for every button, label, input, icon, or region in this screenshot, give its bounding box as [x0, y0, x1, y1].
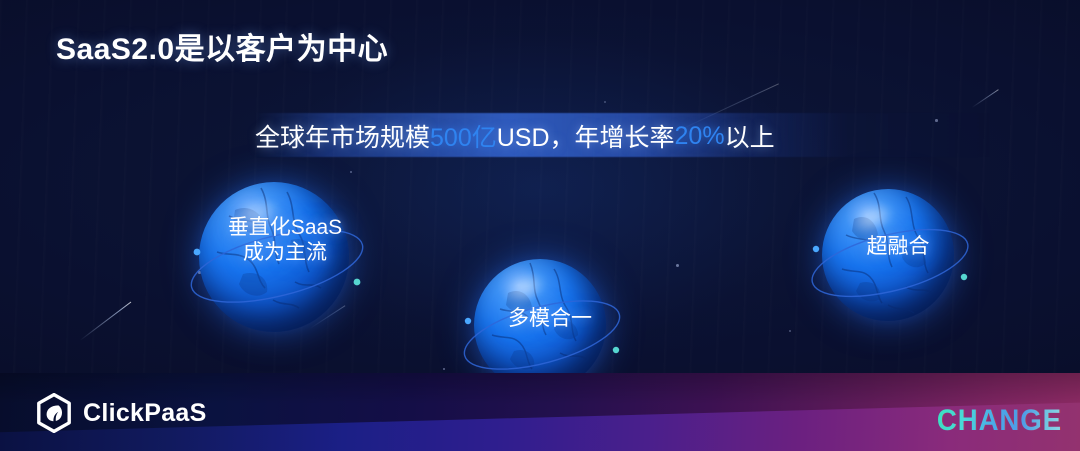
subtitle-text: 全球年市场规模 500亿USD，年增长率20%以上	[255, 117, 1015, 155]
subtitle-highlight-growth-rate: 20%	[675, 122, 725, 151]
node-label: 垂直化SaaS 成为主流	[180, 216, 390, 266]
page-title: SaaS2.0是以客户为中心	[56, 24, 388, 68]
concept-node-hyperconverged[interactable]: 超融合	[808, 175, 988, 345]
star-dot	[676, 264, 679, 267]
presentation-slide: SaaS2.0是以客户为中心 全球年市场规模 500亿USD，年增长率20%以上	[0, 0, 1080, 451]
hexagon-leaf-logo-icon	[36, 393, 72, 433]
star-dot	[443, 368, 445, 370]
brand-logo[interactable]: ClickPaaS	[36, 393, 207, 433]
node-label-line-1: 垂直化SaaS	[180, 216, 390, 241]
node-label-line-2: 成为主流	[180, 241, 390, 266]
node-label-line-1: 超融合	[798, 235, 998, 260]
star-dot	[604, 101, 606, 103]
subtitle-part-1: 全球年市场规模	[255, 118, 430, 154]
footer-slogan: CHANGE	[937, 404, 1062, 438]
shooting-star-streak	[80, 302, 132, 342]
footer-bar: ClickPaaS CHANGE	[0, 373, 1080, 451]
node-label: 超融合	[798, 235, 998, 260]
subtitle-highlight-market-size: 500亿	[430, 118, 497, 154]
concept-node-vertical-saas[interactable]: 垂直化SaaS 成为主流	[185, 168, 385, 358]
shooting-star-streak	[972, 89, 999, 108]
subtitle-part-3: 以上	[725, 118, 775, 154]
star-dot	[789, 330, 791, 332]
node-label: 多模合一	[450, 307, 650, 332]
node-label-line-1: 多模合一	[450, 307, 650, 332]
brand-name: ClickPaaS	[83, 399, 207, 428]
subtitle-part-2: USD，年增长率	[497, 118, 675, 154]
